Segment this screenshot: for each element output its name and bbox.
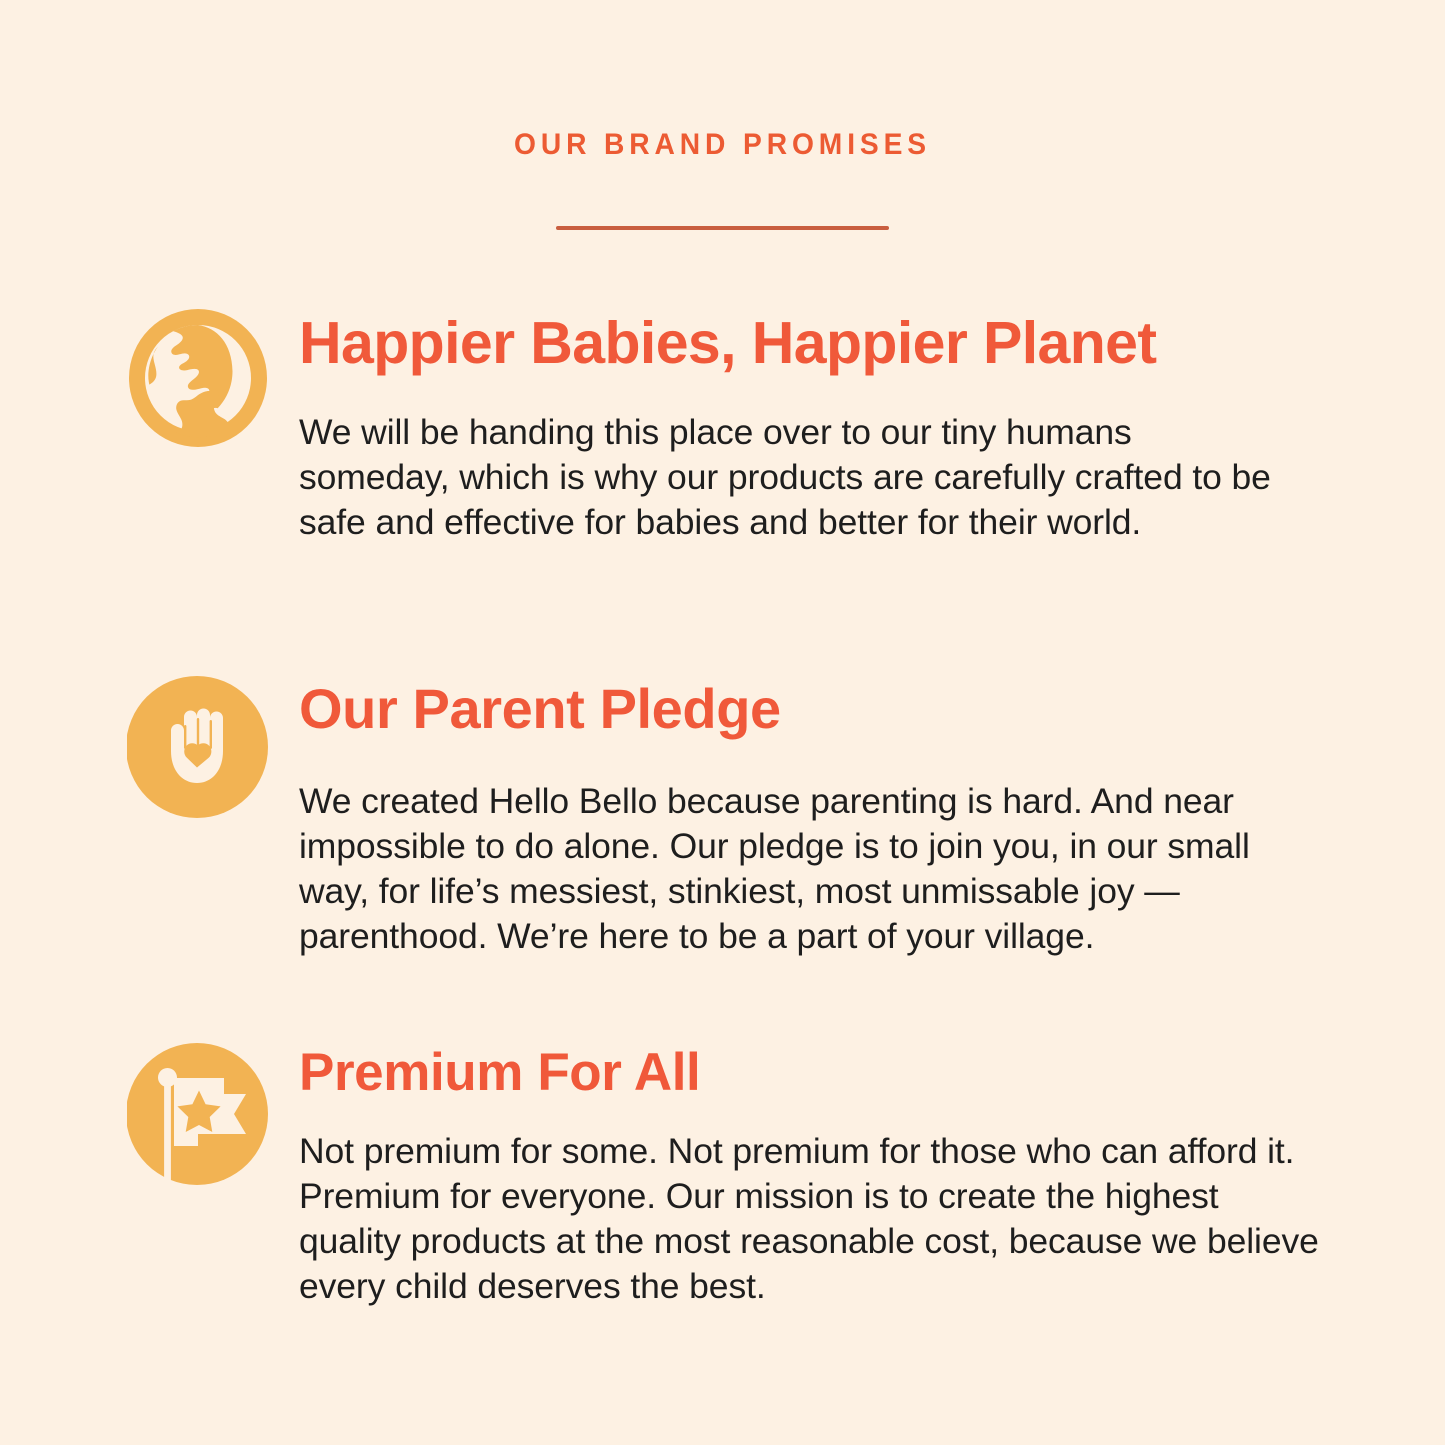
hand-heart-icon	[127, 672, 269, 818]
globe-icon	[127, 305, 269, 451]
promise-title: Happier Babies, Happier Planet	[299, 305, 1334, 373]
page-eyebrow-heading: OUR BRAND PROMISES	[43, 128, 1401, 162]
promise-description: We will be handing this place over to ou…	[299, 410, 1274, 545]
promise-title: Premium For All	[299, 1040, 1334, 1099]
promise-text-block: Happier Babies, Happier Planet We will b…	[299, 305, 1334, 545]
promise-text-block: Our Parent Pledge We created Hello Bello…	[299, 672, 1334, 959]
header-divider	[556, 226, 889, 230]
brand-promises-page: OUR BRAND PROMISES Happier Babies, Happi…	[0, 0, 1445, 1445]
promise-description: We created Hello Bello because parenting…	[299, 779, 1329, 959]
flag-star-icon	[127, 1040, 269, 1186]
promise-text-block: Premium For All Not premium for some. No…	[299, 1040, 1334, 1309]
promise-description: Not premium for some. Not premium for th…	[299, 1129, 1324, 1309]
promise-title: Our Parent Pledge	[299, 672, 1334, 737]
